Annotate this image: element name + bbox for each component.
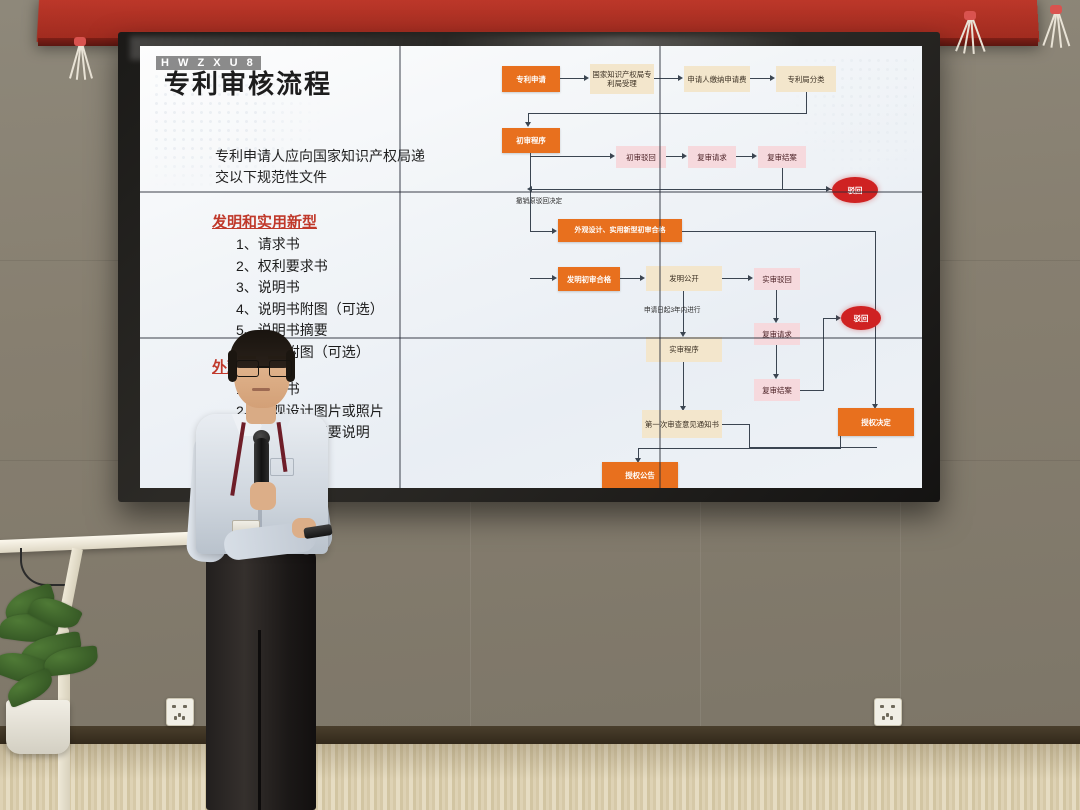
tassel-decoration-right-2 [962,14,978,54]
flow-edge [528,113,807,114]
panel-seam-horizontal [140,191,922,193]
presenter-hand-holding-mic [250,482,276,510]
glasses-lens-left [236,360,259,377]
tassel-decoration-right [1048,8,1064,48]
flow-node-design-utility-qualified[interactable]: 外观设计、实用新型初审合格 [558,219,682,242]
arrow-down-icon [525,122,531,127]
flow-node-reject-2[interactable]: 驳回 [841,306,881,330]
wall-outlet-right [874,698,902,726]
presenter [180,330,370,810]
arrow-right-icon [752,153,757,159]
tassel-knot [964,11,976,20]
wall-tile [1040,60,1080,727]
flow-node-substantive-rejection[interactable]: 实审驳回 [754,268,800,290]
flow-edge [638,448,841,449]
flow-edge [620,278,640,279]
arrow-right-icon [748,275,753,281]
panel-seam-vertical [399,46,401,488]
flow-edge [806,92,807,114]
flow-edge [683,362,684,408]
flow-node-patent-application[interactable]: 专利申请 [502,66,560,92]
flow-edge [530,190,531,232]
tassel-decoration-left [72,40,88,80]
flow-node-pay-application-fee[interactable]: 申请人缴纳申请费 [684,66,750,92]
flow-node-reexamination-conclusion-1[interactable]: 复审结案 [758,146,806,168]
tassel-knot [1050,5,1062,14]
trouser-crease [258,630,261,810]
plant-pot [6,700,70,754]
arrow-right-icon [610,153,615,159]
flow-node-grant-decision[interactable]: 授权决定 [838,408,914,436]
flow-edge [530,156,610,157]
arrow-right-icon [678,75,683,81]
presenter-mouth [252,388,270,391]
glasses-bridge [257,366,269,368]
flow-node-reexamination-conclusion-2[interactable]: 复审结案 [754,379,800,401]
flow-edge [654,78,678,79]
flow-edge [736,156,752,157]
flow-edge [823,318,837,319]
flow-edge [722,278,748,279]
flow-edge [749,424,750,448]
flow-node-reject-1[interactable]: 驳回 [832,177,878,203]
flow-edge [776,345,777,376]
flow-edge-label-3years: 申请日起3年内进行 [644,304,700,314]
arrow-right-icon [640,275,645,281]
arrow-right-icon [552,275,557,281]
flow-node-patent-classification[interactable]: 专利局分类 [776,66,836,92]
flow-edge [800,390,824,391]
arrow-right-icon [770,75,775,81]
flow-edge [666,156,682,157]
arrow-right-icon [552,228,557,234]
flow-edge [530,153,531,190]
flow-node-invention-qualified[interactable]: 发明初审合格 [558,267,620,291]
flow-node-first-office-action[interactable]: 第一次审查意见通知书 [642,410,722,438]
flow-node-reexamination-request-2[interactable]: 复审请求 [754,323,800,345]
baseboard [0,726,1080,744]
flow-edge [560,78,584,79]
flow-edge [722,424,750,425]
glasses-lens-right [269,360,292,377]
flow-node-substantive-examination[interactable]: 实审程序 [646,337,722,362]
flow-edge [823,318,824,391]
flow-edge [782,168,783,190]
flow-edge [776,290,777,320]
flow-edge-label-revoke: 撤销原驳回决定 [516,195,562,205]
flow-edge [530,231,552,232]
tassel-knot [74,37,86,46]
flow-edge [530,278,552,279]
flow-edge [682,231,876,232]
presenter-brow-left [238,356,256,359]
floor-shading [0,744,1080,810]
flow-node-patent-office-acceptance[interactable]: 国家知识产权局专利局受理 [590,64,654,94]
flow-node-reexamination-request-1[interactable]: 复审请求 [688,146,736,168]
presenter-trousers [206,548,316,810]
glasses-icon [236,360,290,375]
panel-seam-vertical [659,46,661,488]
arrow-right-icon [682,153,687,159]
flow-edge [750,78,770,79]
flow-node-preliminary-examination[interactable]: 初审程序 [502,128,560,153]
presenter-brow-right [268,356,286,359]
flow-node-grant-announcement[interactable]: 授权公告 [602,462,678,488]
presentation-room-photo: H W Z X U 8 专利审核流程 专利申请人应向国家知识产权局递交以下规范性… [0,0,1080,810]
flow-node-invention-publication[interactable]: 发明公开 [646,266,722,291]
arrow-right-icon [584,75,589,81]
